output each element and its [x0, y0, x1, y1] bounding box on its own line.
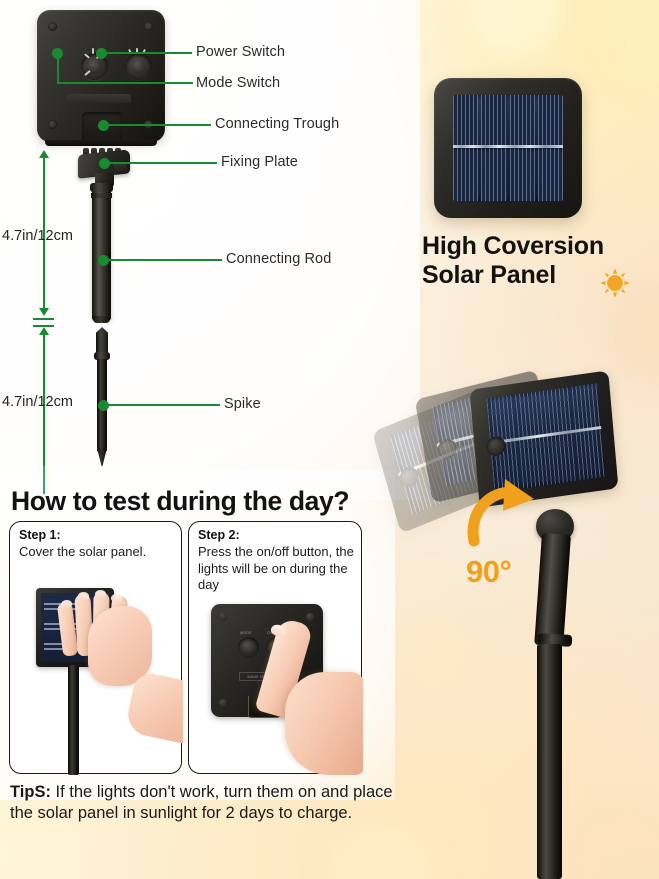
connecting-rod-part [92, 183, 111, 320]
palm [88, 606, 152, 686]
screw-icon [219, 613, 227, 621]
rotation-demo: 90° [378, 372, 659, 879]
power-switch-knob [131, 59, 146, 74]
step-1-body: Cover the solar panel. [19, 544, 175, 561]
solar-busbar [453, 145, 563, 148]
sun-icon [600, 268, 630, 298]
rod-end [93, 316, 110, 323]
step-1-heading: Step 1: [19, 528, 61, 542]
spike-part [94, 327, 110, 466]
upper-pole [534, 533, 571, 647]
callout-label-spike: Spike [224, 396, 261, 412]
hand [285, 672, 363, 775]
spike-head [96, 327, 108, 353]
callout-line-power-switch [104, 52, 192, 54]
pole-small [68, 665, 79, 775]
housing-bottom-lip [45, 140, 157, 146]
screw-icon [306, 613, 314, 621]
mode-switch-caption: MODE [240, 631, 252, 635]
callout-label-mode-switch: Mode Switch [196, 75, 280, 91]
fingernail [95, 590, 106, 598]
callout-line-connecting-rod [106, 259, 222, 261]
mode-switch-knob-small [242, 641, 255, 654]
callout-label-power-switch: Power Switch [196, 44, 285, 60]
mode-switch-well-small [238, 637, 259, 658]
screw-icon [48, 22, 57, 31]
fingernail [111, 594, 122, 602]
callout-line-mode-switch-v [57, 54, 59, 84]
callout-line-connecting-trough [106, 124, 211, 126]
step-1-illustration [10, 580, 183, 775]
howto-section-title: How to test during the day? [11, 486, 349, 517]
tips-body: If the lights don't work, turn them on a… [10, 783, 393, 822]
hero-heading-line1: High Coversion [422, 232, 654, 261]
callout-line-spike [106, 404, 220, 406]
step-2-illustration: MODE ON/OFF 2 IN 1 MADE IN CHINA [189, 598, 363, 775]
callout-label-connecting-trough: Connecting Trough [215, 116, 339, 132]
product-infographic: Power Switch Mode Switch Connecting Trou… [0, 0, 659, 879]
tips-label: TipS: [10, 783, 51, 801]
curved-rotate-arrow-icon [464, 479, 536, 557]
callout-line-fixing-plate [107, 162, 217, 164]
lower-pole [537, 644, 562, 879]
solar-cell-column [481, 95, 506, 201]
step-2-body: Press the on/off button, the lights will… [198, 544, 355, 594]
rotation-degrees-label: 90° [466, 554, 511, 590]
screw-icon [219, 699, 227, 707]
step-2-heading: Step 2: [198, 528, 240, 542]
rod-collar-secondary [91, 193, 112, 198]
solar-cell-column [510, 95, 535, 201]
power-switch-well [125, 53, 152, 80]
dim-label-spike: 4.7in/12cm [2, 394, 73, 410]
fingernail [78, 592, 89, 600]
tips-section: TipS: If the lights don't work, turn the… [10, 782, 395, 825]
callout-line-mode-switch-h [57, 82, 193, 84]
label-strip [67, 94, 131, 103]
solar-cell-grid [453, 95, 563, 201]
solar-cell-column [538, 95, 563, 201]
dim-label-rod: 4.7in/12cm [2, 228, 73, 244]
solar-cell-column [453, 95, 478, 201]
screw-icon [144, 22, 153, 31]
step-card-1: Step 1: Cover the solar panel. [9, 521, 182, 774]
callout-label-fixing-plate: Fixing Plate [221, 154, 298, 170]
solar-panel-hero-image [434, 78, 582, 218]
dim-divider-tick-upper [33, 318, 54, 320]
callout-label-connecting-rod: Connecting Rod [226, 251, 331, 267]
rod-collar [90, 183, 113, 192]
screw-icon [48, 120, 57, 129]
spike-point [97, 448, 107, 466]
dim-arrow-mid-down [39, 308, 49, 316]
step-card-2: Step 2: Press the on/off button, the lig… [188, 521, 362, 774]
